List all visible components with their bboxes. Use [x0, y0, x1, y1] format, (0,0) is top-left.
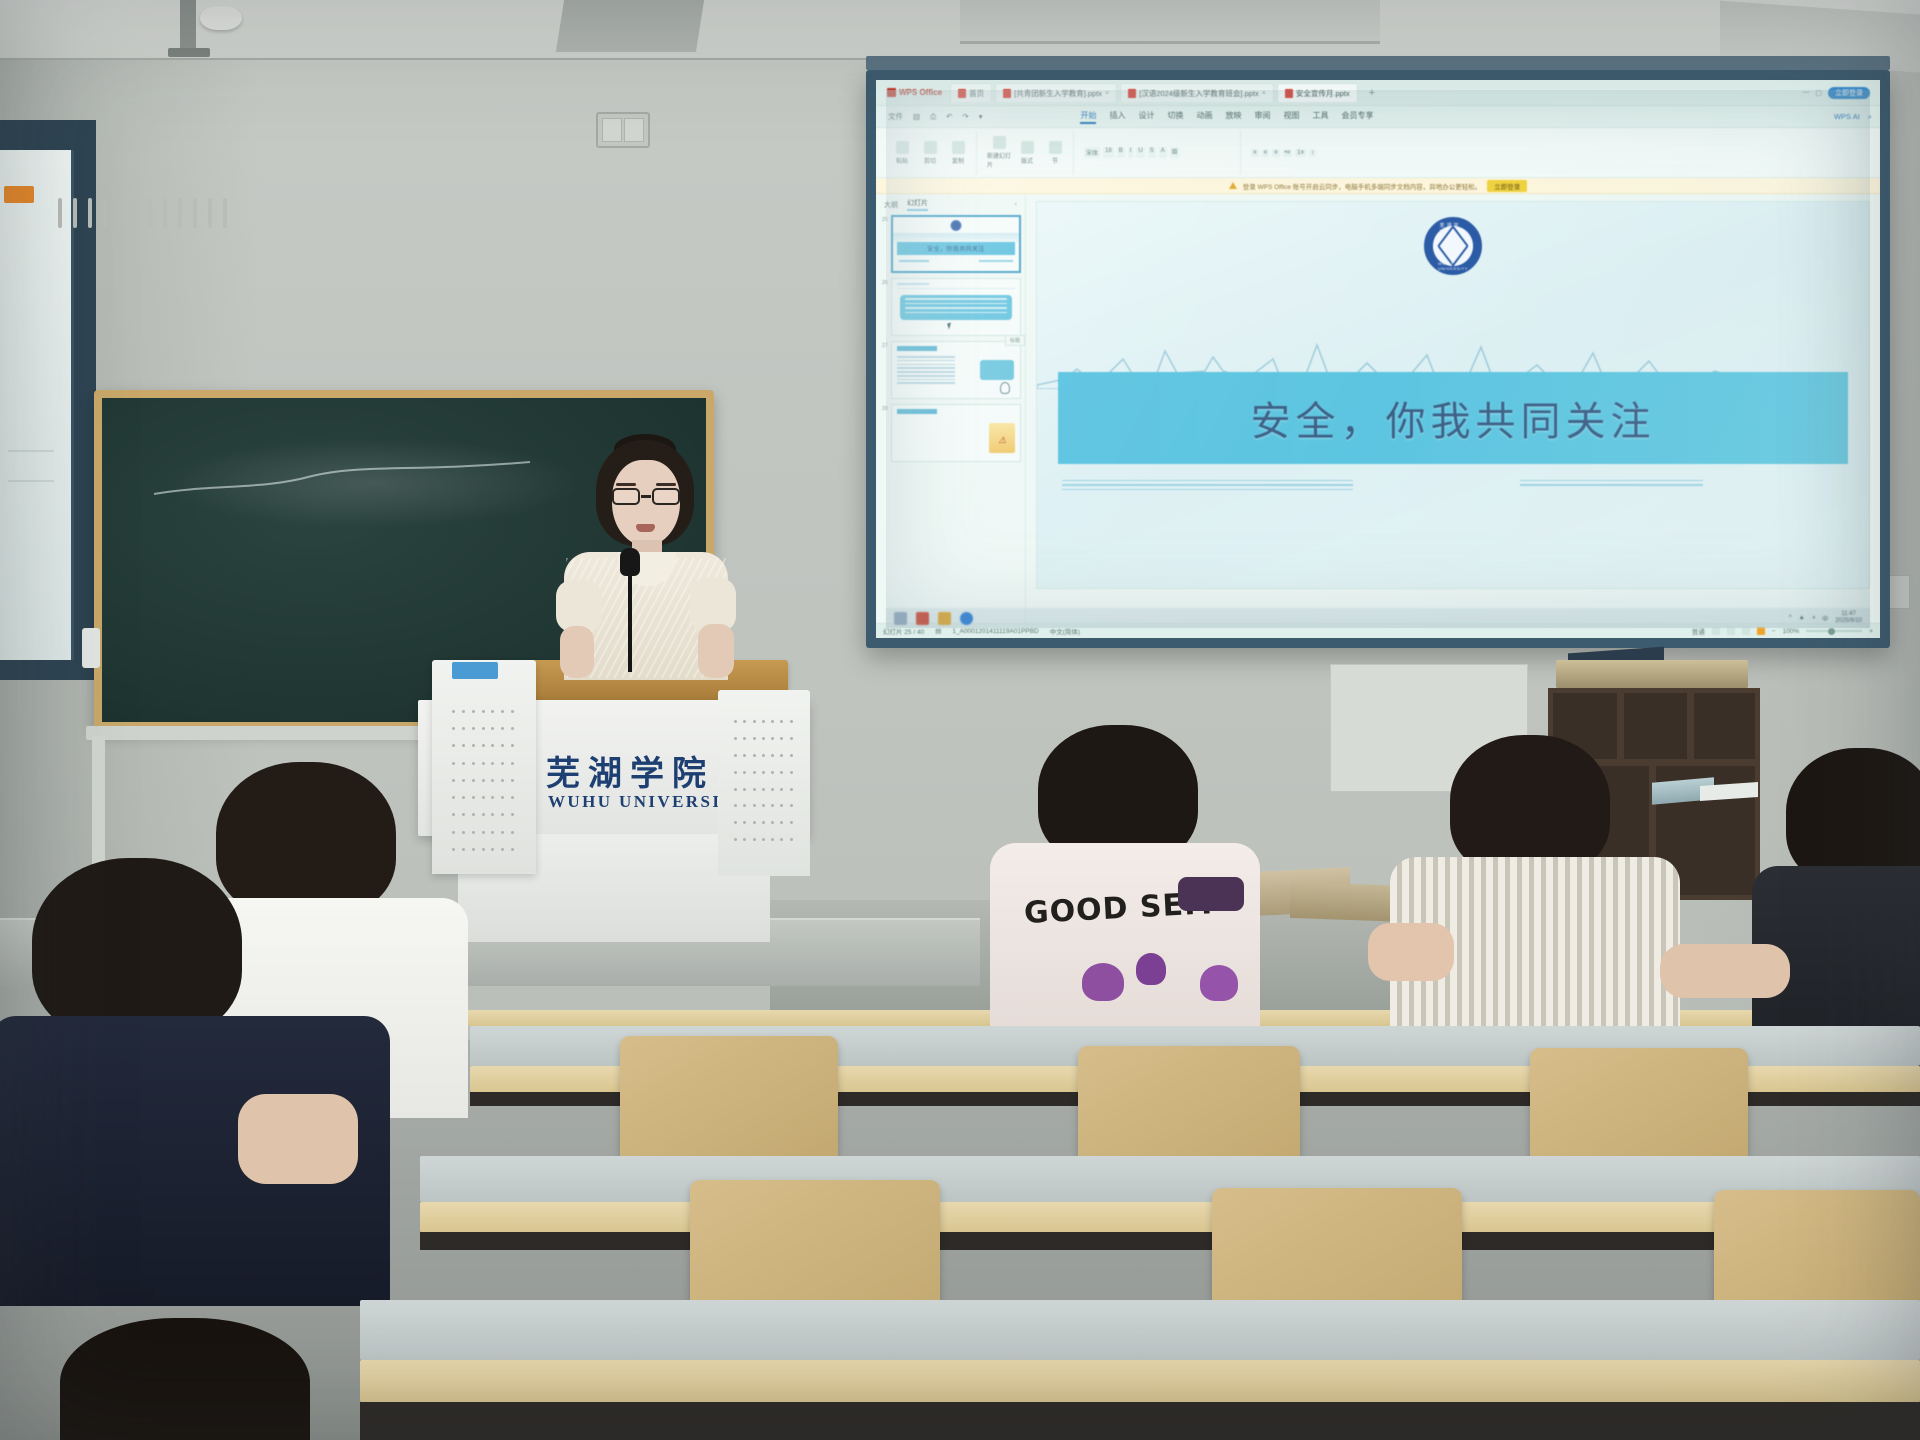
current-slide[interactable]: 芜湖学院 WUHU UNIVERSITY 安全，你我共同关注 — [1036, 201, 1870, 589]
doc-tab-label: 安全宣传月.pptx — [1296, 88, 1350, 99]
view-notes-icon[interactable] — [1742, 627, 1750, 635]
eyebrow — [616, 483, 636, 486]
wps-office-window: WPS Office 首页 [共青团新生入学教育].pptx × [汉语2024… — [876, 80, 1880, 638]
network-icon[interactable]: ▲ — [1799, 615, 1805, 621]
student-foreground-head — [60, 1318, 310, 1440]
light-switch[interactable] — [596, 112, 650, 148]
ribbon-group-slides: 新建幻灯片 版式 节 — [981, 131, 1074, 175]
lens-left — [612, 488, 640, 505]
zoom-level[interactable]: 100% — [1783, 628, 1800, 635]
paste-label: 粘贴 — [896, 156, 908, 165]
switch-rocker[interactable] — [624, 118, 644, 142]
ribbon-group-font: 宋体 18 B I U S A ▨ — [1078, 131, 1241, 175]
zoom-slider-knob[interactable] — [1828, 628, 1835, 635]
student-head — [32, 858, 242, 1040]
wps-workspace: 大纲 幻灯片 ‹ 25 安全，你我共同关 — [876, 194, 1880, 623]
new-slide-button[interactable]: 新建幻灯片 — [987, 136, 1011, 169]
glasses-bridge — [641, 495, 651, 498]
strikethrough-icon[interactable]: S — [1148, 147, 1156, 158]
copy-button[interactable]: 复制 — [946, 141, 970, 165]
browser-icon[interactable] — [960, 612, 973, 625]
underline-icon[interactable]: U — [1136, 147, 1144, 158]
ribbon-tab-member[interactable]: 会员专享 — [1341, 110, 1373, 124]
desk-surface — [420, 1202, 1920, 1232]
microphone-stem — [628, 560, 632, 672]
thumb-text-line — [905, 298, 1007, 300]
view-sorter-icon[interactable] — [1712, 627, 1720, 635]
slide-title: 安全，你我共同关注 — [1251, 389, 1656, 447]
file-icon — [1003, 89, 1011, 98]
thumb-callout — [980, 360, 1014, 380]
microphone-icon — [620, 548, 640, 576]
desk-front-panel — [360, 1300, 1920, 1360]
section-icon — [1049, 141, 1062, 154]
chair[interactable] — [1078, 1046, 1300, 1172]
tshirt-graphic — [1178, 877, 1244, 911]
logo-ring-bottom: WUHU UNIVERSITY — [1438, 261, 1468, 271]
explorer-icon[interactable] — [938, 612, 951, 625]
ribbon-tab-transition[interactable]: 切换 — [1167, 110, 1183, 124]
ribbon-group-clipboard: 粘贴 剪切 复制 — [884, 131, 977, 175]
tshirt-graphic — [1082, 963, 1124, 1001]
new-slide-label: 新建幻灯片 — [987, 151, 1011, 169]
align-center-icon[interactable]: ≡ — [1262, 149, 1270, 157]
desk-surface — [360, 1360, 1920, 1402]
clock-time: 11:47 — [1841, 611, 1856, 617]
thumb-text-line — [905, 312, 1007, 314]
document-path: 1_A0001201411119A01PPBD — [952, 628, 1038, 635]
undo-icon[interactable]: ↶ — [942, 112, 956, 121]
thumb-underline — [897, 288, 1015, 289]
mouth — [636, 524, 655, 532]
slide-rule-right — [1520, 480, 1703, 489]
student-right-dark — [1752, 748, 1920, 1048]
cut-icon — [924, 141, 937, 154]
classroom-scene: WPS Office 首页 [共青团新生入学教育].pptx × [汉语2024… — [0, 0, 1920, 1440]
student-arm — [1660, 944, 1790, 998]
thumb-text-line — [905, 307, 1007, 309]
font-size-selector[interactable]: 18 — [1103, 147, 1114, 158]
student-front-left — [0, 858, 390, 1298]
bold-icon[interactable]: B — [1117, 147, 1125, 158]
display-badge — [4, 186, 34, 203]
highlight-icon[interactable]: ▨ — [1170, 147, 1180, 158]
panel-tab-outline[interactable]: 大纲 — [884, 200, 898, 210]
close-icon[interactable]: × — [1262, 90, 1266, 97]
doc-tab-1[interactable]: [共青团新生入学教育].pptx × — [995, 83, 1117, 102]
file-icon — [958, 89, 966, 98]
slide-rule-left — [1062, 480, 1353, 494]
thumbnail-number: 26 — [880, 278, 888, 336]
blackboard-clip[interactable] — [82, 628, 100, 668]
section-button[interactable]: 节 — [1043, 141, 1067, 165]
wps-ribbon-tabbar: 文件 ▤ ⎙ ↶ ↷ ▾ 开始 插入 设计 切换 动画 放映 审阅 视图 — [876, 106, 1880, 128]
document-path-icon: ▤ — [935, 627, 941, 635]
layout-label: 版式 — [1021, 156, 1033, 165]
shelf-divider — [1687, 693, 1694, 759]
paragraph-controls[interactable]: ≡ ≡ ≡ •≡ 1≡ ↕ — [1251, 149, 1401, 157]
desk-shadow — [360, 1402, 1920, 1440]
login-pill[interactable]: 立即登录 — [1828, 87, 1870, 99]
wps-logo-icon — [887, 88, 896, 97]
layout-button[interactable]: 版式 — [1015, 141, 1039, 165]
cut-label: 剪切 — [924, 156, 936, 165]
blue-device[interactable] — [452, 662, 498, 679]
italic-icon[interactable]: I — [1128, 147, 1134, 158]
cloud-sync-notice: 登录 WPS Office 账号开启云同步，电脑手机多端同步文档内容，异地办公更… — [876, 178, 1880, 194]
taskbar-clock[interactable]: 11:47 2025/9/10 — [1835, 611, 1862, 624]
layout-icon — [1021, 141, 1034, 154]
numbering-icon[interactable]: 1≡ — [1295, 149, 1306, 157]
thumb-content-box — [900, 295, 1012, 320]
thumbnail-number: 25 — [880, 215, 888, 273]
save-icon[interactable]: ▤ — [909, 112, 924, 121]
font-color-icon[interactable]: A — [1159, 147, 1167, 158]
ribbon-tab-start[interactable]: 开始 — [1080, 110, 1096, 124]
lens-right — [652, 488, 680, 505]
university-logo-icon: 芜湖学院 WUHU UNIVERSITY — [1424, 217, 1482, 275]
ribbon-group-paragraph: ≡ ≡ ≡ •≡ 1≡ ↕ — [1245, 131, 1407, 175]
student-arm — [1368, 923, 1454, 981]
copy-icon — [952, 141, 965, 154]
panel-tab-slides[interactable]: 幻灯片 — [907, 198, 928, 211]
thumb-rule — [979, 260, 1013, 262]
thumbnail-27[interactable] — [891, 341, 1021, 399]
chevron-down-icon[interactable]: ▾ — [975, 112, 987, 121]
thumb-heading — [897, 283, 929, 285]
file-icon — [1128, 89, 1136, 98]
thumbnail-number: 28 — [880, 404, 888, 462]
zoom-out-button[interactable]: − — [1772, 628, 1776, 635]
student-good-seit: GOOD SEIT — [990, 725, 1260, 1025]
slide-editor[interactable]: 芜湖学院 WUHU UNIVERSITY 安全，你我共同关注 — [1026, 194, 1880, 623]
chair[interactable] — [620, 1036, 838, 1160]
mouse-cursor-icon — [947, 323, 953, 330]
thumb-title-band: 安全，你我共同关注 — [897, 242, 1015, 255]
wps-logo-label: WPS Office — [899, 88, 942, 97]
ribbon-tab-design[interactable]: 设计 — [1138, 110, 1154, 124]
forearm-right — [698, 624, 734, 678]
align-right-icon[interactable]: ≡ — [1272, 149, 1280, 157]
thumb-heading — [897, 409, 937, 414]
tray-chevron-icon[interactable]: ^ — [1789, 615, 1792, 621]
wps-logo: WPS Office — [882, 88, 947, 97]
thumbnail-26[interactable] — [891, 278, 1021, 336]
system-tray: ^ ▲ ◑ 中 11:47 2025/9/10 — [1789, 611, 1862, 624]
thumbnail-row[interactable]: 25 安全，你我共同关注 — [880, 215, 1021, 273]
font-family-selector[interactable]: 宋体 — [1084, 147, 1100, 158]
notice-text: 登录 WPS Office 账号开启云同步，电脑手机多端同步文档内容，异地办公更… — [1243, 181, 1482, 191]
chalk-streak-icon — [152, 460, 532, 500]
desk-row-2 — [420, 1156, 1920, 1248]
ribbon-tab-insert[interactable]: 插入 — [1109, 110, 1125, 124]
thumbnail-number: 27 — [880, 341, 888, 399]
ceiling-vent — [960, 0, 1380, 44]
redo-icon[interactable]: ↷ — [958, 112, 972, 121]
desk-shadow — [420, 1232, 1920, 1250]
slide-thumbnails: 25 安全，你我共同关注 — [876, 215, 1025, 623]
tabbar-controls: — ▢ 立即登录 — [1802, 87, 1874, 99]
file-icon — [1285, 89, 1293, 98]
section-label: 节 — [1052, 156, 1058, 165]
university-name-cn: 芜湖学院 — [546, 746, 714, 795]
line-spacing-icon[interactable]: ↕ — [1309, 149, 1316, 157]
thumb-warning-sign-icon: ⚠ — [989, 423, 1015, 453]
ribbon-tab-view[interactable]: 视图 — [1283, 110, 1299, 124]
doc-tab-label: 首页 — [969, 88, 984, 99]
eyebrow — [656, 483, 676, 486]
paste-icon — [896, 141, 909, 154]
desk-front-panel — [420, 1156, 1920, 1202]
ribbon-right-tools: WPS AI ⌕ — [1834, 112, 1872, 122]
thumb-sign-icon — [1000, 382, 1010, 394]
thumbnail-25[interactable]: 安全，你我共同关注 — [891, 215, 1021, 273]
paste-button[interactable]: 粘贴 — [890, 141, 914, 165]
thumbnail-row[interactable]: 27 标题 — [880, 341, 1021, 399]
thumbnail-title: 安全，你我共同关注 — [927, 244, 985, 253]
wps-ribbon: 粘贴 剪切 复制 新建幻灯 — [876, 128, 1880, 178]
windows-taskbar: ^ ▲ ◑ 中 11:47 2025/9/10 — [886, 608, 1870, 628]
speaker-person — [556, 440, 736, 670]
slide-title-band: 安全，你我共同关注 — [1058, 372, 1848, 465]
slide-panel: 大纲 幻灯片 ‹ 25 安全，你我共同关 — [876, 194, 1026, 623]
tshirt-graphic — [1136, 953, 1166, 985]
student-head — [1450, 735, 1610, 877]
start-icon[interactable] — [894, 612, 907, 625]
maximize-icon[interactable]: ▢ — [1815, 89, 1822, 97]
thumb-body-text — [897, 356, 955, 386]
thumb-logo-icon — [951, 220, 962, 231]
desk-row-1 — [360, 1300, 1920, 1440]
new-slide-icon — [993, 136, 1006, 149]
new-tab-button[interactable]: + — [1361, 87, 1383, 99]
thumb-rule — [899, 260, 929, 262]
print-icon[interactable]: ⎙ — [926, 112, 940, 122]
qa-file[interactable]: 文件 — [884, 111, 907, 122]
bullets-icon[interactable]: •≡ — [1283, 149, 1293, 157]
ime-icon[interactable]: 中 — [1822, 614, 1828, 623]
student-torso — [990, 843, 1260, 1033]
display-line — [8, 450, 54, 452]
student-arm — [238, 1094, 358, 1184]
chair[interactable] — [1530, 1048, 1748, 1170]
clock-date: 2025/9/10 — [1835, 618, 1862, 624]
ribbon-tab-review[interactable]: 审阅 — [1254, 110, 1270, 124]
display-line — [8, 480, 54, 482]
glasses-icon — [611, 488, 681, 505]
thumbnail-row[interactable]: 26 — [880, 278, 1021, 336]
switch-rocker[interactable] — [602, 118, 622, 142]
ribbon-tab-animation[interactable]: 动画 — [1196, 110, 1212, 124]
sleeve-left — [556, 580, 602, 632]
ribbon-tab-slideshow[interactable]: 放映 — [1225, 110, 1241, 124]
doc-tab-3[interactable]: 安全宣传月.pptx — [1277, 83, 1358, 102]
search-icon[interactable]: ⌕ — [1868, 112, 1872, 122]
speaker-grille-right — [734, 720, 794, 850]
align-left-icon[interactable]: ≡ — [1251, 149, 1259, 157]
thumbnail-28[interactable]: ⚠ — [891, 404, 1021, 462]
zoom-slider[interactable] — [1806, 630, 1862, 632]
student-head — [60, 1318, 310, 1440]
ribbon-tab-tools[interactable]: 工具 — [1312, 110, 1328, 124]
tshirt-graphic — [1200, 965, 1238, 1001]
doc-tab-label: [汉语2024级新生入学教育班会].pptx — [1139, 88, 1259, 99]
projector-mount-bracket — [168, 48, 210, 57]
cut-button[interactable]: 剪切 — [918, 141, 942, 165]
warning-icon — [1229, 182, 1237, 189]
shelf-top-board — [1556, 660, 1748, 688]
ceiling-rail — [556, 0, 704, 52]
zoom-in-button[interactable]: + — [1869, 628, 1873, 635]
chevron-left-icon[interactable]: ‹ — [1015, 201, 1017, 208]
smoke-detector-icon — [200, 6, 242, 30]
thumb-text-line — [905, 303, 1007, 305]
view-slideshow-icon[interactable] — [1757, 627, 1765, 635]
thumbnail-row[interactable]: 28 ⚠ — [880, 404, 1021, 462]
student-striped — [1390, 735, 1680, 1035]
font-controls[interactable]: 宋体 18 B I U S A ▨ — [1084, 147, 1234, 158]
projection-screen: WPS Office 首页 [共青团新生入学教育].pptx × [汉语2024… — [866, 70, 1890, 648]
forearm-left — [560, 626, 594, 678]
notice-login-button[interactable]: 立即登录 — [1487, 180, 1527, 192]
doc-tab-label: [共青团新生入学教育].pptx — [1014, 88, 1102, 99]
ribbon-tabs: 开始 插入 设计 切换 动画 放映 审阅 视图 工具 会员专享 — [1080, 110, 1373, 124]
volume-icon[interactable]: ◑ — [1812, 615, 1816, 621]
view-reading-icon[interactable] — [1727, 627, 1735, 635]
minimize-icon[interactable]: — — [1802, 89, 1809, 96]
wps-tab-bar: WPS Office 首页 [共青团新生入学教育].pptx × [汉语2024… — [876, 80, 1880, 106]
doc-tab-2[interactable]: [汉语2024级新生入学教育班会].pptx × — [1120, 83, 1274, 102]
taskbar-app-icon[interactable] — [916, 612, 929, 625]
lectern-vents — [58, 198, 227, 228]
screen-surface: WPS Office 首页 [共青团新生入学教育].pptx × [汉语2024… — [876, 80, 1880, 638]
doc-tab-home[interactable]: 首页 — [950, 83, 992, 102]
thumb-heading — [897, 346, 937, 351]
slide-panel-header: 大纲 幻灯片 ‹ — [876, 194, 1025, 215]
close-icon[interactable]: × — [1105, 90, 1109, 97]
copy-label: 复制 — [952, 156, 964, 165]
wps-ai-button[interactable]: WPS AI — [1834, 112, 1860, 121]
panel-tooltip: 标题 — [1005, 335, 1025, 346]
